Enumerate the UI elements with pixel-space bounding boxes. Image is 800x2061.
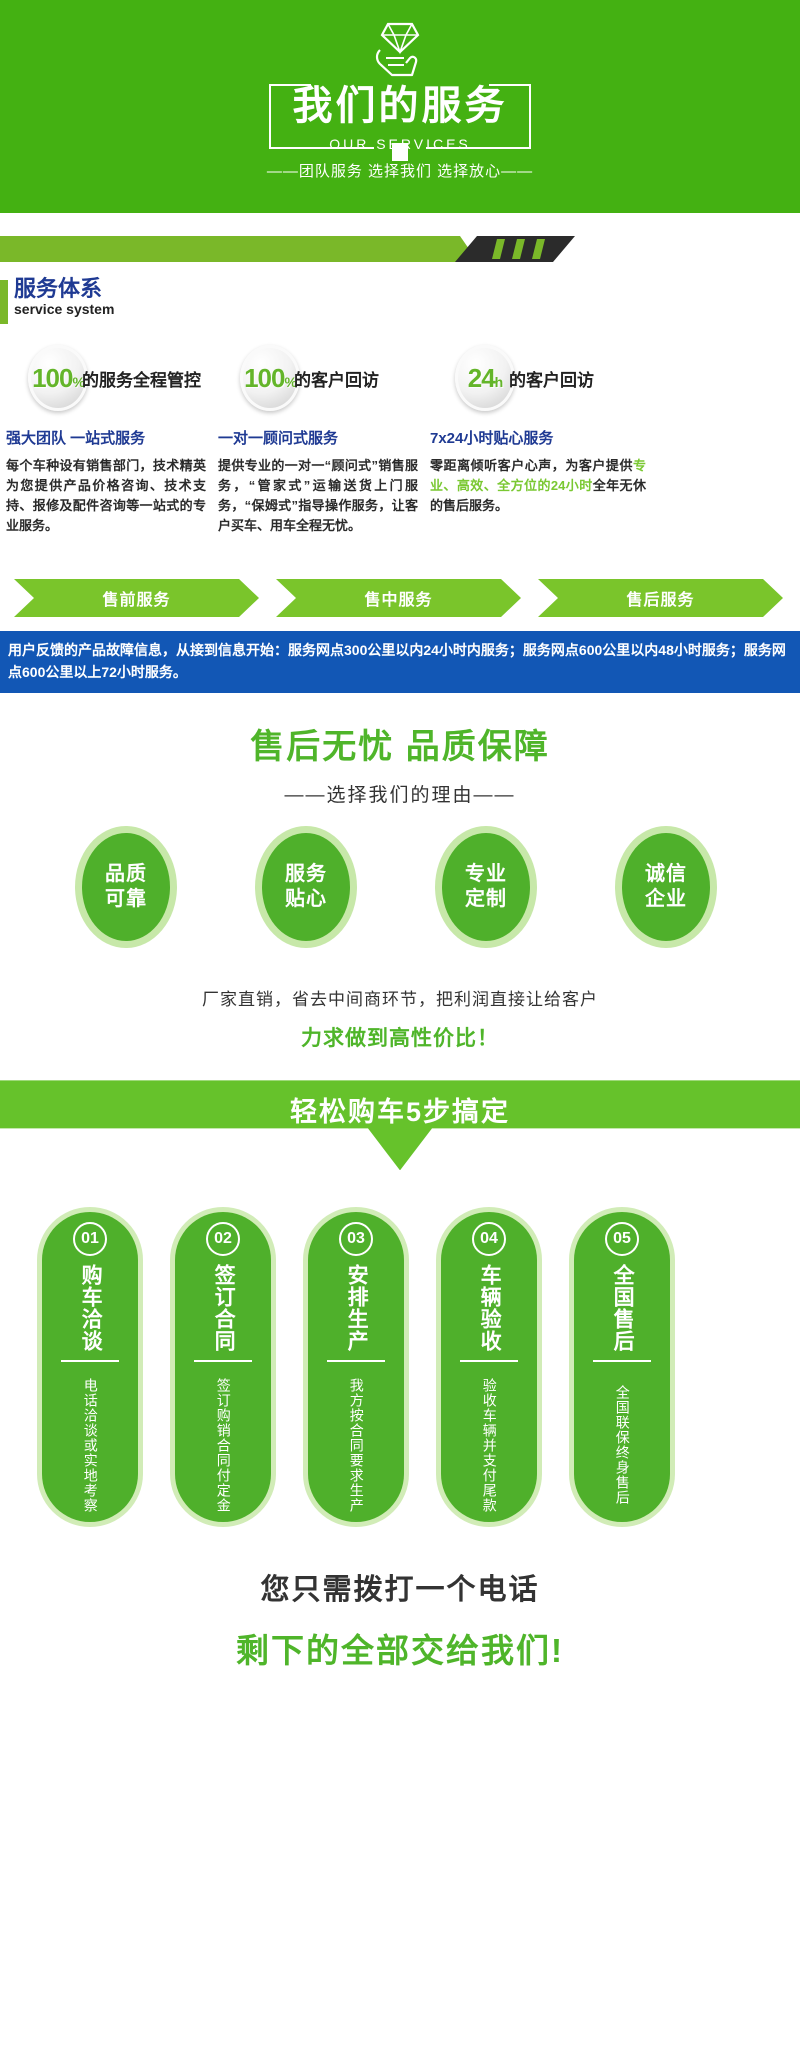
phase-arrow[interactable]: 售后服务 <box>538 579 783 617</box>
step-card[interactable]: 04 车辆验收 验收车辆并支付尾款 <box>441 1212 537 1522</box>
reason-line1: 专业 <box>465 862 507 887</box>
footer-line-1: 您只需拨打一个电话 <box>0 1566 800 1608</box>
column-title: 7x24小时贴心服务 <box>430 427 646 448</box>
column-title: 强大团队 一站式服务 <box>6 427 206 448</box>
column-title: 一对一顾问式服务 <box>218 427 418 448</box>
badge-label: 的服务全程管控 <box>82 366 201 391</box>
phase-arrow[interactable]: 售中服务 <box>276 579 521 617</box>
step-title: 全国售后 <box>610 1262 634 1354</box>
service-system-decor-band <box>0 231 800 267</box>
service-columns: 强大团队 一站式服务 每个车种设有销售部门，技术精英为您提供产品价格咨询、技术支… <box>0 427 800 557</box>
reason-oval: 诚信 企业 <box>622 833 710 941</box>
step-desc: 签订购销合同付定金 <box>214 1370 232 1520</box>
step-card[interactable]: 02 签订合同 签订购销合同付定金 <box>175 1212 271 1522</box>
column-body-pre: 零距离倾听客户心声，为客户提供 <box>430 458 633 473</box>
service-system-title-en: service system <box>14 301 800 317</box>
notice-band: 用户反馈的产品故障信息，从接到信息开始：服务网点300公里以内24小时内服务；服… <box>0 631 800 693</box>
step-desc: 电话洽谈或实地考察 <box>81 1370 99 1520</box>
service-column: 7x24小时贴心服务 零距离倾听客户心声，为客户提供专业、高效、全方位的24小时… <box>430 427 646 516</box>
step-divider <box>460 1360 518 1362</box>
step-number: 05 <box>605 1222 639 1256</box>
badges-row: 100% 的服务全程管控 100% 的客户回访 24h 的客户回访 <box>0 345 800 411</box>
step-desc: 验收车辆并支付尾款 <box>480 1370 498 1520</box>
step-desc: 全国联保终身售后 <box>613 1370 631 1520</box>
reason-line2: 贴心 <box>285 887 327 912</box>
service-system-title-cn: 服务体系 <box>14 277 800 301</box>
step-number: 01 <box>73 1222 107 1256</box>
reason-line2: 可靠 <box>105 887 147 912</box>
badge-orb: 100% <box>240 345 300 411</box>
service-phase-arrows: 售前服务 售中服务 售后服务 <box>0 579 800 617</box>
step-card[interactable]: 03 安排生产 我方按合同要求生产 <box>308 1212 404 1522</box>
reason-ovals: 品质 可靠 服务 贴心 专业 定制 诚信 企业 <box>0 833 800 953</box>
reason-oval: 服务 贴心 <box>262 833 350 941</box>
step-title: 签订合同 <box>211 1262 235 1354</box>
reason-oval: 品质 可靠 <box>82 833 170 941</box>
step-number: 02 <box>206 1222 240 1256</box>
badge-item: 100% 的客户回访 <box>240 345 379 411</box>
badge-value: 100 <box>244 363 284 393</box>
badge-value: 100 <box>32 363 72 393</box>
service-system-heading: 服务体系 service system <box>0 277 800 331</box>
step-divider <box>61 1360 119 1362</box>
reason-line1: 服务 <box>285 862 327 887</box>
step-desc: 我方按合同要求生产 <box>347 1370 365 1520</box>
column-body: 提供专业的一对一“顾问式”销售服务，“管家式”运输送货上门服务，“保姆式”指导操… <box>218 456 418 537</box>
step-divider <box>593 1360 651 1362</box>
reasons-title: 售后无忧 品质保障 <box>0 719 800 768</box>
phase-arrow[interactable]: 售前服务 <box>14 579 259 617</box>
column-body: 每个车种设有销售部门，技术精英为您提供产品价格咨询、技术支持、报修及配件咨询等一… <box>6 456 206 537</box>
phase-arrow-label: 售前服务 <box>102 586 170 610</box>
reason-line2: 企业 <box>645 887 687 912</box>
service-column: 强大团队 一站式服务 每个车种设有销售部门，技术精英为您提供产品价格咨询、技术支… <box>6 427 206 537</box>
step-title: 安排生产 <box>344 1262 368 1354</box>
reason-line1: 品质 <box>105 862 147 887</box>
reasons-subtitle: ——选择我们的理由—— <box>0 780 800 807</box>
badge-item: 24h 的客户回访 <box>455 345 594 411</box>
footer-line-2: 剩下的全部交给我们! <box>0 1624 800 1672</box>
step-number: 03 <box>339 1222 373 1256</box>
purchase-steps-banner: 轻松购车5步搞定 <box>0 1080 800 1170</box>
badge-unit: h <box>495 374 503 390</box>
hero-banner: 我们的服务 OUR SERVICES ——团队服务 选择我们 选择放心—— <box>0 0 800 213</box>
step-divider <box>194 1360 252 1362</box>
badge-orb: 24h <box>455 345 515 411</box>
phase-arrow-label: 售后服务 <box>626 586 694 610</box>
service-column: 一对一顾问式服务 提供专业的一对一“顾问式”销售服务，“管家式”运输送货上门服务… <box>218 427 418 537</box>
badge-label: 的客户回访 <box>294 366 379 391</box>
step-title: 车辆验收 <box>477 1262 501 1354</box>
step-card[interactable]: 01 购车洽谈 电话洽谈或实地考察 <box>42 1212 138 1522</box>
badge-item: 100% 的服务全程管控 <box>28 345 201 411</box>
column-body: 零距离倾听客户心声，为客户提供专业、高效、全方位的24小时全年无休的售后服务。 <box>430 456 646 516</box>
hero-tagline: ——团队服务 选择我们 选择放心—— <box>0 160 800 181</box>
page-title: 我们的服务 <box>0 86 800 126</box>
step-card[interactable]: 05 全国售后 全国联保终身售后 <box>574 1212 670 1522</box>
step-title: 购车洽谈 <box>78 1262 102 1354</box>
phase-arrow-label: 售中服务 <box>364 586 432 610</box>
hero-tick-marker <box>392 143 408 161</box>
badge-value: 24 <box>468 363 495 393</box>
purchase-step-cards: 01 购车洽谈 电话洽谈或实地考察 02 签订合同 签订购销合同付定金 03 安… <box>0 1212 800 1522</box>
diamond-in-hand-icon <box>370 18 430 80</box>
reason-line1: 诚信 <box>645 862 687 887</box>
step-divider <box>327 1360 385 1362</box>
badge-label: 的客户回访 <box>509 366 594 391</box>
heading-accent-tick <box>0 280 8 324</box>
reason-line2: 定制 <box>465 887 507 912</box>
reason-oval: 专业 定制 <box>442 833 530 941</box>
badge-orb: 100% <box>28 345 88 411</box>
purchase-banner-label: 轻松购车5步搞定 <box>0 1090 800 1129</box>
deal-line-2: 力求做到高性价比！ <box>0 1022 800 1052</box>
step-number: 04 <box>472 1222 506 1256</box>
decor-green-bar <box>0 236 478 262</box>
deal-line-1: 厂家直销，省去中间商环节，把利润直接让给客户 <box>0 985 800 1010</box>
